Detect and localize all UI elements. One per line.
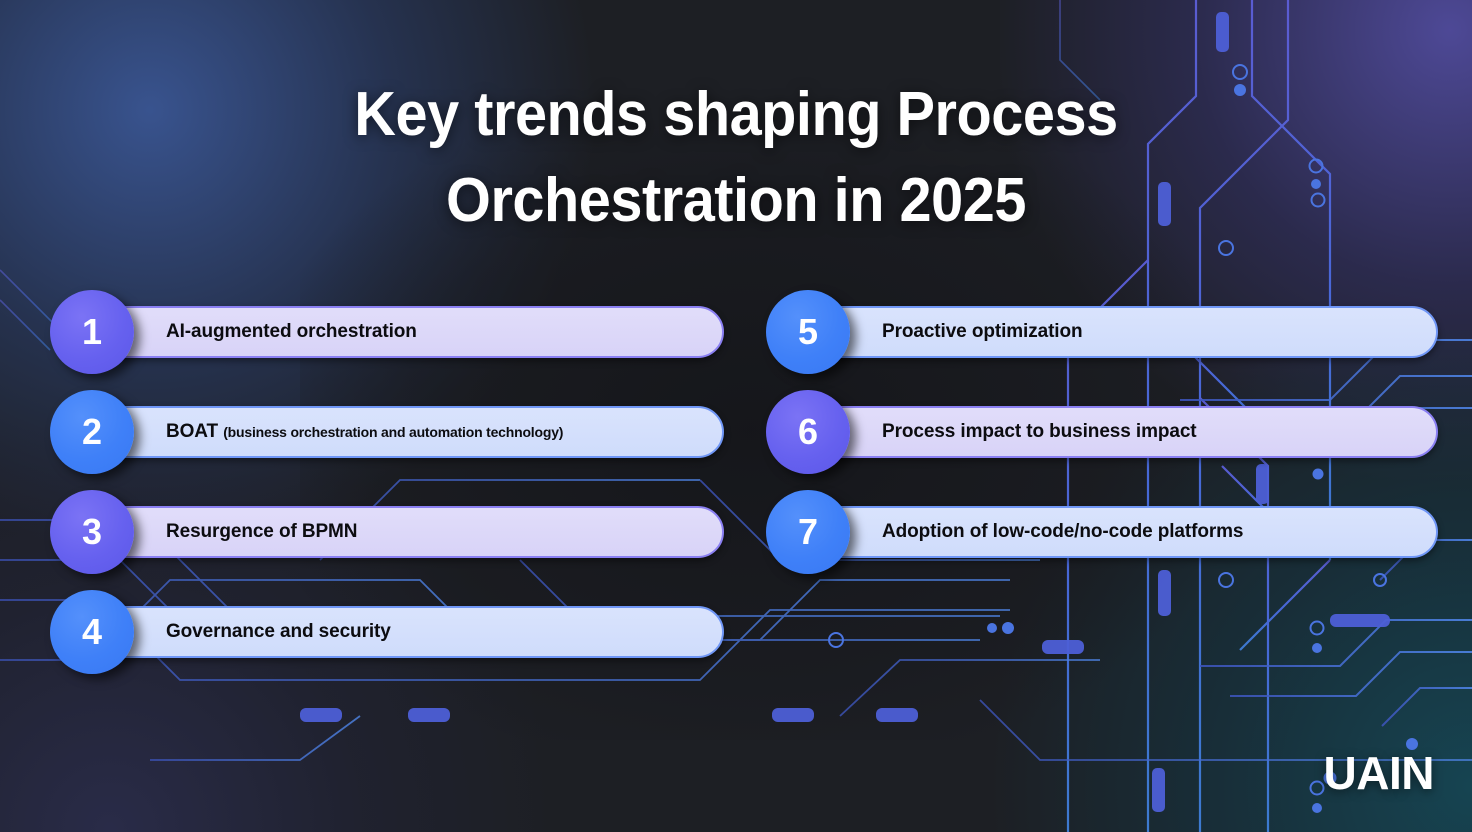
trend-label-2: BOAT (business orchestration and automat… bbox=[92, 421, 563, 443]
page-title-line-1: Key trends shaping Process bbox=[354, 80, 1117, 149]
trend-pill-5[interactable]: Proactive optimization bbox=[806, 306, 1438, 358]
trend-item-3[interactable]: Resurgence of BPMN 3 bbox=[50, 490, 724, 574]
trend-pill-2[interactable]: BOAT (business orchestration and automat… bbox=[90, 406, 724, 458]
trend-label-4: Governance and security bbox=[92, 621, 391, 643]
trend-item-4[interactable]: Governance and security 4 bbox=[50, 590, 724, 674]
trend-label-6-main: Process impact to business impact bbox=[882, 421, 1197, 442]
trend-label-3-main: Resurgence of BPMN bbox=[166, 521, 357, 542]
trend-label-7: Adoption of low-code/no-code platforms bbox=[808, 521, 1243, 543]
trend-pill-7[interactable]: Adoption of low-code/no-code platforms bbox=[806, 506, 1438, 558]
trend-number-badge-2[interactable]: 2 bbox=[50, 390, 134, 474]
trend-number-badge-3[interactable]: 3 bbox=[50, 490, 134, 574]
trend-label-6: Process impact to business impact bbox=[808, 421, 1197, 443]
trend-number-7: 7 bbox=[798, 511, 818, 553]
trend-label-2-sub: (business orchestration and automation t… bbox=[223, 424, 563, 440]
trend-pill-4[interactable]: Governance and security bbox=[90, 606, 724, 658]
trend-label-5-main: Proactive optimization bbox=[882, 321, 1083, 342]
trend-item-2[interactable]: BOAT (business orchestration and automat… bbox=[50, 390, 724, 474]
trend-item-1[interactable]: AI-augmented orchestration 1 bbox=[50, 290, 724, 374]
trend-number-badge-5[interactable]: 5 bbox=[766, 290, 850, 374]
page-title: Key trends shaping Process Orchestration… bbox=[271, 72, 1201, 244]
trend-number-6: 6 bbox=[798, 411, 818, 453]
brand-logo: UAIN bbox=[1324, 746, 1434, 800]
trend-number-4: 4 bbox=[82, 611, 102, 653]
trend-label-2-main: BOAT bbox=[166, 421, 218, 442]
trend-number-badge-6[interactable]: 6 bbox=[766, 390, 850, 474]
slide-canvas: Key trends shaping Process Orchestration… bbox=[0, 0, 1472, 832]
trend-number-badge-7[interactable]: 7 bbox=[766, 490, 850, 574]
trend-item-5[interactable]: Proactive optimization 5 bbox=[766, 290, 1438, 374]
trend-item-6[interactable]: Process impact to business impact 6 bbox=[766, 390, 1438, 474]
trend-pill-6[interactable]: Process impact to business impact bbox=[806, 406, 1438, 458]
trend-label-1-main: AI-augmented orchestration bbox=[166, 321, 417, 342]
trend-number-1: 1 bbox=[82, 311, 102, 353]
trend-pill-1[interactable]: AI-augmented orchestration bbox=[90, 306, 724, 358]
trend-number-badge-4[interactable]: 4 bbox=[50, 590, 134, 674]
trend-number-2: 2 bbox=[82, 411, 102, 453]
trend-label-4-main: Governance and security bbox=[166, 621, 391, 642]
trend-item-7[interactable]: Adoption of low-code/no-code platforms 7 bbox=[766, 490, 1438, 574]
trend-label-1: AI-augmented orchestration bbox=[92, 321, 417, 343]
trend-pill-3[interactable]: Resurgence of BPMN bbox=[90, 506, 724, 558]
trend-number-5: 5 bbox=[798, 311, 818, 353]
trend-label-7-main: Adoption of low-code/no-code platforms bbox=[882, 521, 1243, 542]
page-title-line-2: Orchestration in 2025 bbox=[446, 166, 1026, 235]
trend-number-badge-1[interactable]: 1 bbox=[50, 290, 134, 374]
trend-number-3: 3 bbox=[82, 511, 102, 553]
